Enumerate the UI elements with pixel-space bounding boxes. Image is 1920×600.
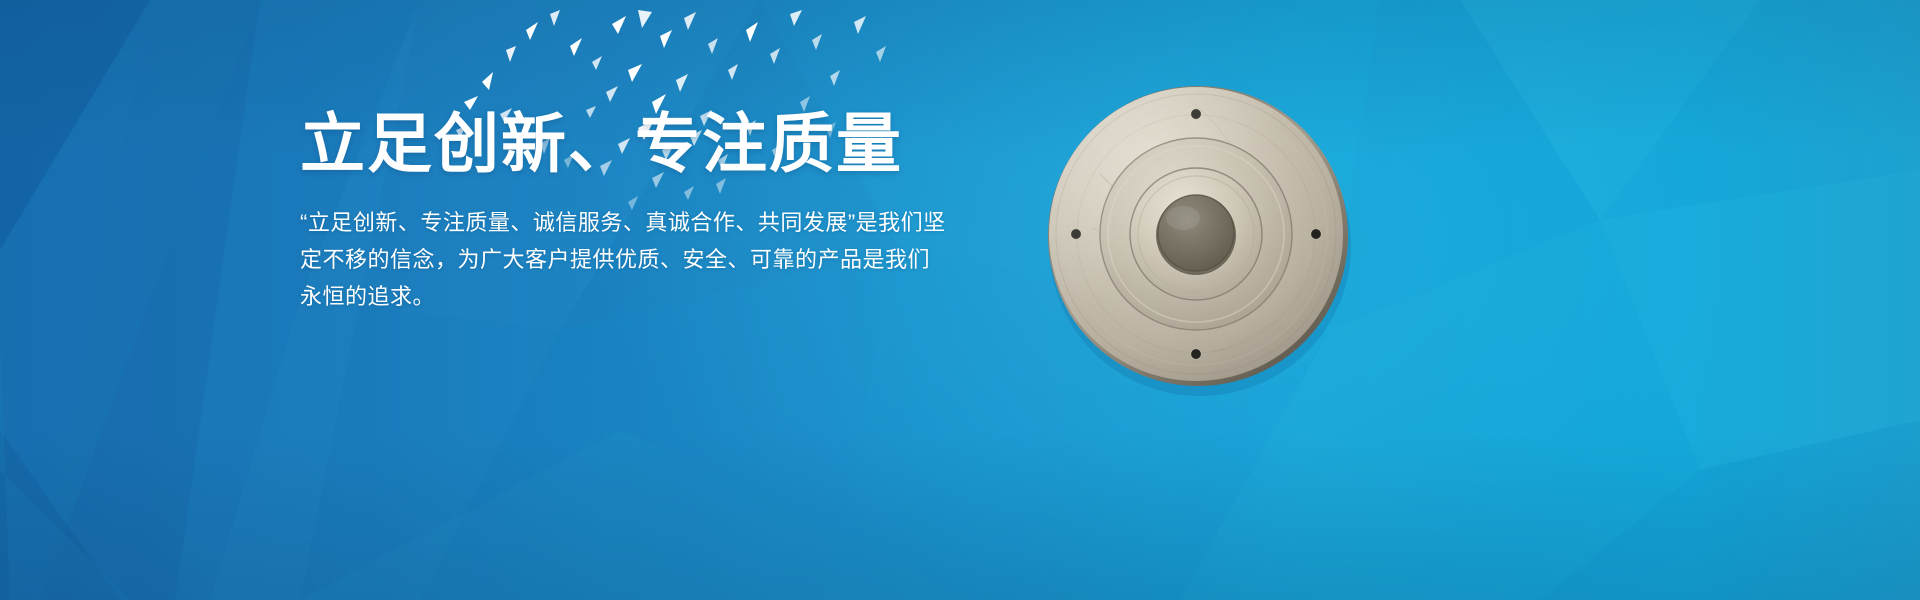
product-image-metal-flange <box>1040 78 1360 398</box>
banner-paragraph: “立足创新、专注质量、诚信服务、真诚合作、共同发展”是我们坚定不移的信念，为广大… <box>300 180 948 315</box>
banner-headline: 立足创新、专注质量 <box>300 108 1000 180</box>
banner-copy: 立足创新、专注质量 “立足创新、专注质量、诚信服务、真诚合作、共同发展”是我们坚… <box>300 108 1000 315</box>
hero-banner: 立足创新、专注质量 “立足创新、专注质量、诚信服务、真诚合作、共同发展”是我们坚… <box>0 0 1920 600</box>
